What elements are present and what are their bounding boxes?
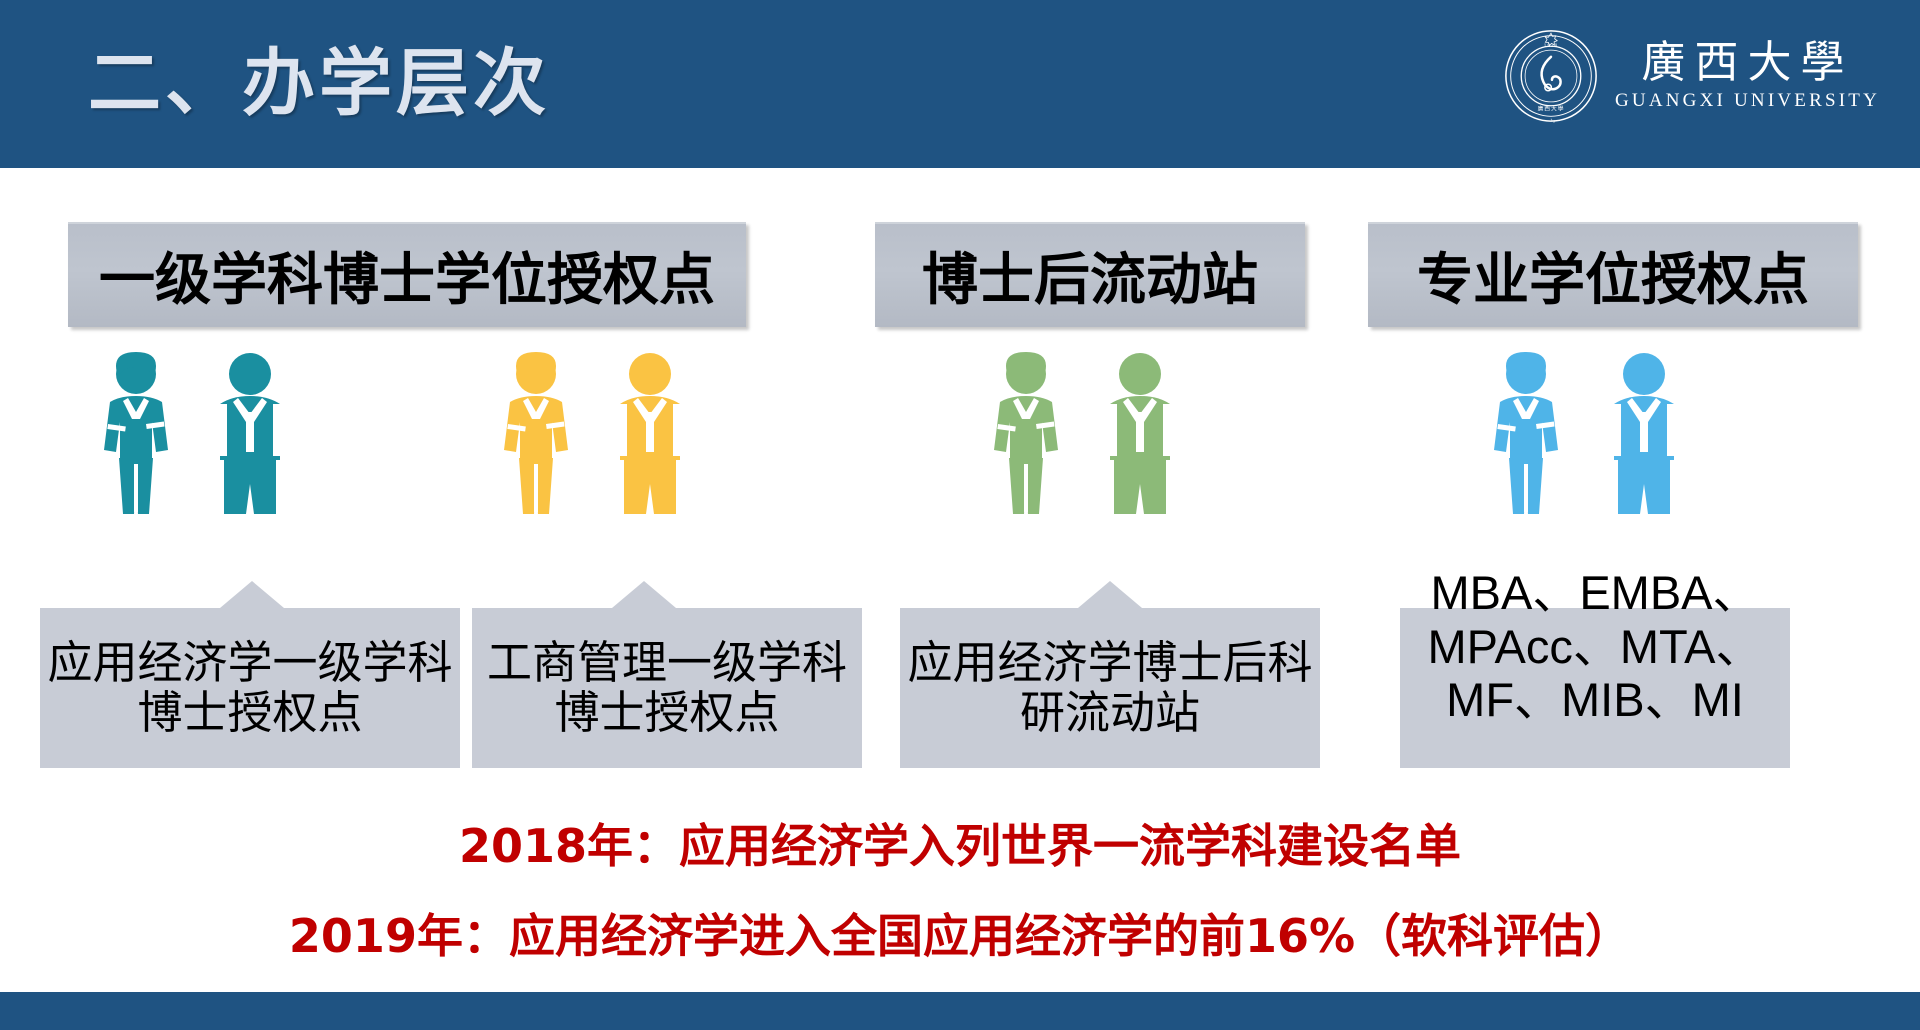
caption-box-professional-degrees: MBA、EMBA、MPAcc、MTA、MF、MIB、MI — [1400, 608, 1790, 768]
svg-text:1928: 1928 — [1544, 43, 1559, 48]
caption-text: MBA、EMBA、MPAcc、MTA、MF、MIB、MI — [1378, 566, 1812, 727]
people-group-business-administration — [488, 352, 698, 522]
logo-name-en: GUANGXI UNIVERSITY — [1615, 90, 1880, 112]
group-chip-doctoral-discipline: 一级学科博士学位授权点 — [68, 222, 746, 327]
female-figure-icon — [88, 352, 184, 522]
group-chip-professional-degree: 专业学位授权点 — [1368, 222, 1858, 327]
caption-text: 工商管理一级学科博士授权点 — [472, 638, 862, 739]
svg-text:廣西大學: 廣西大學 — [1538, 105, 1565, 113]
male-figure-icon — [602, 352, 698, 522]
caption-pointer-icon — [612, 581, 676, 608]
male-figure-icon — [1092, 352, 1188, 522]
people-group-applied-economics — [88, 352, 298, 522]
logo-wordmark: 廣西大學 GUANGXI UNIVERSITY — [1615, 40, 1880, 112]
caption-text: 应用经济学博士后科研流动站 — [900, 638, 1320, 739]
caption-box-applied-economics: 应用经济学一级学科博士授权点 — [40, 608, 460, 768]
caption-pointer-icon — [220, 581, 284, 608]
page-title: 二、办学层次 — [88, 24, 550, 130]
female-figure-icon — [1478, 352, 1574, 522]
people-group-postdoc — [978, 352, 1188, 522]
male-figure-icon — [1596, 352, 1692, 522]
logo-name-cn: 廣西大學 — [1642, 40, 1854, 86]
caption-text: 应用经济学一级学科博士授权点 — [40, 638, 460, 739]
female-figure-icon — [978, 352, 1074, 522]
note-line-2018: 2018年：应用经济学入列世界一流学科建设名单 — [0, 810, 1920, 876]
guangxi-university-seal-icon: 廣西大學 1928 — [1503, 28, 1599, 124]
people-group-professional-degree — [1478, 352, 1692, 522]
male-figure-icon — [202, 352, 298, 522]
slide-header: 二、办学层次 廣西大學 1928 廣西大學 GUANGXI UNIVERSITY — [0, 0, 1920, 168]
caption-pointer-icon — [1078, 581, 1142, 608]
slide-footer-bar — [0, 992, 1920, 1030]
university-logo: 廣西大學 1928 廣西大學 GUANGXI UNIVERSITY — [1503, 28, 1880, 124]
caption-box-business-administration: 工商管理一级学科博士授权点 — [472, 608, 862, 768]
female-figure-icon — [488, 352, 584, 522]
note-line-2019: 2019年：应用经济学进入全国应用经济学的前16%（软科评估） — [0, 900, 1920, 966]
group-chip-postdoc-station: 博士后流动站 — [875, 222, 1305, 327]
caption-box-postdoc-station: 应用经济学博士后科研流动站 — [900, 608, 1320, 768]
